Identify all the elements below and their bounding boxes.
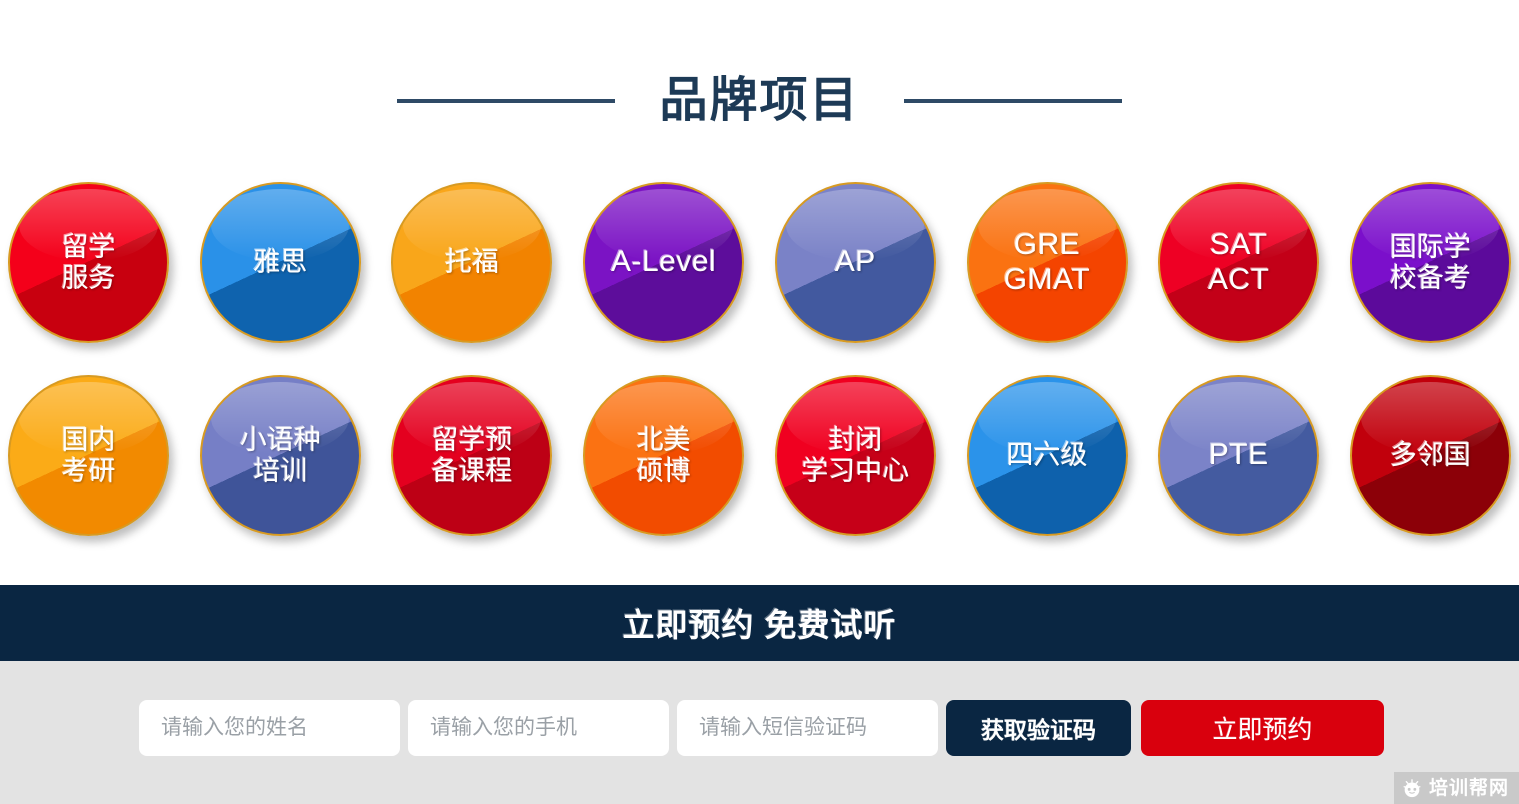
program-circle-ap[interactable]: AP <box>773 180 938 345</box>
program-circle-label: 封闭 学习中心 <box>801 425 909 487</box>
program-circle-body[interactable]: 国内 考研 <box>8 375 169 536</box>
program-circle-study-abroad-service[interactable]: 留学 服务 <box>6 180 171 345</box>
program-circle-body[interactable]: PTE <box>1158 375 1319 536</box>
program-circle-body[interactable]: 国际学 校备考 <box>1350 182 1511 343</box>
title-rule-right <box>904 99 1122 103</box>
program-circle-label: 四六级 <box>1007 440 1088 471</box>
program-circle-body[interactable]: 雅思 <box>200 182 361 343</box>
program-circle-label: 雅思 <box>253 247 307 278</box>
program-circle-duolingo[interactable]: 多邻国 <box>1348 373 1513 538</box>
program-circle-body[interactable]: 北美 硕博 <box>583 375 744 536</box>
program-circle-label: AP <box>835 245 876 279</box>
program-circle-body[interactable]: 托福 <box>391 182 552 343</box>
page-title-row: 品牌项目 <box>0 62 1519 140</box>
program-circle-body[interactable]: 封闭 学习中心 <box>775 375 936 536</box>
program-circle-body[interactable]: SAT ACT <box>1158 182 1319 343</box>
program-circle-label: 北美 硕博 <box>637 425 691 487</box>
program-circle-label: 国际学 校备考 <box>1390 232 1471 294</box>
site-watermark: 培训帮网 <box>1394 772 1519 804</box>
program-circle-toefl[interactable]: 托福 <box>389 180 554 345</box>
program-circle-body[interactable]: 四六级 <box>967 375 1128 536</box>
program-circle-sat-act[interactable]: SAT ACT <box>1156 180 1321 345</box>
brand-programs-page: 品牌项目 留学 服务雅思托福A-LevelAPGRE GMATSAT ACT国际… <box>0 0 1519 804</box>
program-circle-label: 留学预 备课程 <box>431 425 512 487</box>
program-circle-body[interactable]: 留学预 备课程 <box>391 375 552 536</box>
program-circle-gre-gmat[interactable]: GRE GMAT <box>965 180 1130 345</box>
page-title: 品牌项目 <box>659 77 859 125</box>
program-circle-body[interactable]: GRE GMAT <box>967 182 1128 343</box>
program-circle-pre-study-abroad-course[interactable]: 留学预 备课程 <box>389 373 554 538</box>
get-verification-code-button[interactable]: 获取验证码 <box>946 700 1131 756</box>
reservation-form-strip: 获取验证码 立即预约 <box>0 661 1519 804</box>
program-circle-intl-school-prep[interactable]: 国际学 校备考 <box>1348 180 1513 345</box>
program-circle-body[interactable]: 留学 服务 <box>8 182 169 343</box>
title-rule-left <box>397 99 615 103</box>
program-circle-body[interactable]: 小语种 培训 <box>200 375 361 536</box>
program-circle-ielts[interactable]: 雅思 <box>198 180 363 345</box>
program-circle-pte[interactable]: PTE <box>1156 373 1321 538</box>
program-circle-body[interactable]: 多邻国 <box>1350 375 1511 536</box>
program-circle-body[interactable]: AP <box>775 182 936 343</box>
program-grid: 留学 服务雅思托福A-LevelAPGRE GMATSAT ACT国际学 校备考… <box>0 180 1519 566</box>
watermark-label: 培训帮网 <box>1429 779 1509 798</box>
program-circle-label: A-Level <box>611 245 716 279</box>
program-circle-cet-4-6[interactable]: 四六级 <box>965 373 1130 538</box>
sms-code-input[interactable] <box>677 700 938 756</box>
program-circle-label: PTE <box>1209 438 1269 472</box>
program-circle-closed-study-center[interactable]: 封闭 学习中心 <box>773 373 938 538</box>
program-circle-label: 多邻国 <box>1390 440 1471 471</box>
program-circle-label: 留学 服务 <box>62 232 116 294</box>
phone-input[interactable] <box>408 700 669 756</box>
program-circle-label: 国内 考研 <box>62 425 116 487</box>
program-grid-row-2: 国内 考研小语种 培训留学预 备课程北美 硕博封闭 学习中心四六级PTE多邻国 <box>0 373 1519 538</box>
program-circle-domestic-postgrad-exam[interactable]: 国内 考研 <box>6 373 171 538</box>
cta-banner: 立即预约 免费试听 <box>0 585 1519 661</box>
program-circle-label: 托福 <box>445 247 499 278</box>
program-circle-label: SAT ACT <box>1208 228 1270 296</box>
submit-reservation-button[interactable]: 立即预约 <box>1141 700 1384 756</box>
sun-face-icon <box>1402 778 1422 798</box>
reservation-form: 获取验证码 立即预约 <box>139 700 1384 756</box>
program-circle-north-america-master-phd[interactable]: 北美 硕博 <box>581 373 746 538</box>
program-circle-label: 小语种 培训 <box>240 425 321 487</box>
name-input[interactable] <box>139 700 400 756</box>
cta-banner-text: 立即预约 免费试听 <box>623 600 897 646</box>
program-circle-a-level[interactable]: A-Level <box>581 180 746 345</box>
program-circle-minor-language-training[interactable]: 小语种 培训 <box>198 373 363 538</box>
program-circle-body[interactable]: A-Level <box>583 182 744 343</box>
program-circle-label: GRE GMAT <box>1004 228 1090 296</box>
program-grid-row-1: 留学 服务雅思托福A-LevelAPGRE GMATSAT ACT国际学 校备考 <box>0 180 1519 345</box>
